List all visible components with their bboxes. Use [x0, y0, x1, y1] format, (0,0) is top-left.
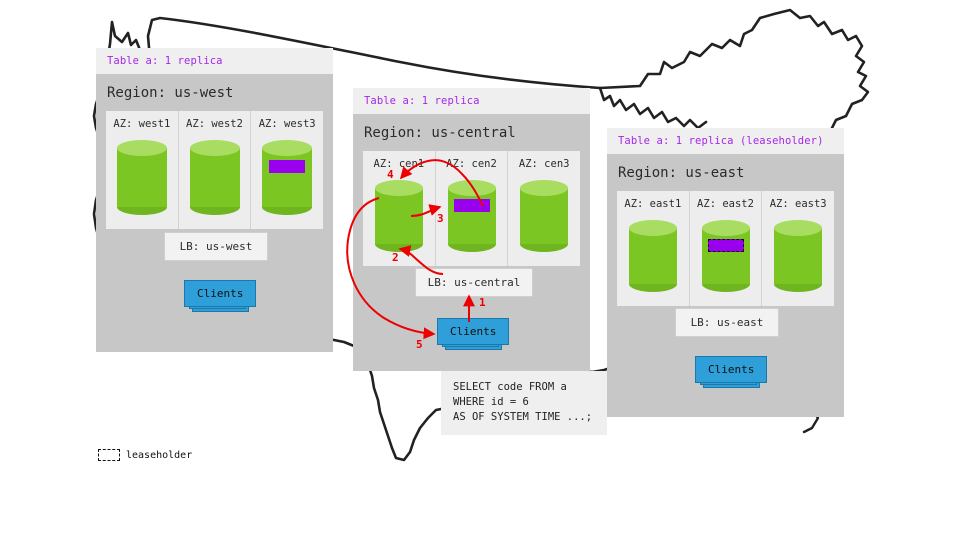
az-label-west3: AZ: west3 [251, 118, 323, 130]
az-cell-west3[interactable]: AZ: west3 [250, 111, 323, 229]
region-label-us-central: Region: us-central [353, 114, 590, 151]
cylinder-east3[interactable] [774, 220, 822, 292]
cylinder-east1[interactable] [629, 220, 677, 292]
cylinder-top [702, 220, 750, 236]
cylinder-top [629, 220, 677, 236]
cylinder-top [262, 140, 312, 156]
az-label-cen2: AZ: cen2 [436, 158, 508, 170]
diagram-canvas: Table a: 1 replica Region: us-west AZ: w… [0, 0, 960, 540]
az-row-us-east: AZ: east1 AZ: east2 AZ: east3 [617, 191, 834, 306]
az-row-us-west: AZ: west1 AZ: west2 AZ: west3 [106, 111, 323, 229]
cylinder-top [190, 140, 240, 156]
load-balancer-us-central[interactable]: LB: us-central [415, 268, 533, 297]
az-label-cen1: AZ: cen1 [363, 158, 435, 170]
legend-leaseholder: leaseholder [98, 449, 192, 461]
load-balancer-us-west[interactable]: LB: us-west [164, 232, 268, 261]
cylinder-body [375, 188, 423, 244]
az-label-east2: AZ: east2 [690, 198, 762, 210]
cylinder-west1[interactable] [117, 140, 167, 215]
range-replica-east2-leaseholder[interactable] [708, 239, 744, 252]
cylinder-west2[interactable] [190, 140, 240, 215]
cylinder-body [629, 228, 677, 284]
az-cell-west1[interactable]: AZ: west1 [106, 111, 178, 229]
cylinder-top [520, 180, 568, 196]
panel-title-us-central: Table a: 1 replica [353, 88, 590, 114]
region-panel-us-west: Table a: 1 replica Region: us-west AZ: w… [96, 48, 333, 352]
leaseholder-swatch-icon [98, 449, 120, 461]
cylinder-body [520, 188, 568, 244]
az-label-west1: AZ: west1 [106, 118, 178, 130]
arrow-number-3: 3 [437, 212, 444, 225]
clients-us-east[interactable]: Clients [695, 356, 767, 383]
cylinder-cen2[interactable] [448, 180, 496, 252]
az-cell-cen1[interactable]: AZ: cen1 [363, 151, 435, 266]
clients-label-us-central[interactable]: Clients [437, 318, 509, 345]
clients-us-west[interactable]: Clients [184, 280, 256, 307]
cylinder-body [262, 148, 312, 207]
clients-label-us-west[interactable]: Clients [184, 280, 256, 307]
cylinder-east2[interactable] [702, 220, 750, 292]
region-label-us-east: Region: us-east [607, 154, 844, 191]
az-cell-west2[interactable]: AZ: west2 [178, 111, 251, 229]
cylinder-top [448, 180, 496, 196]
cylinder-cen1[interactable] [375, 180, 423, 252]
cylinder-body [702, 228, 750, 284]
range-replica-cen2[interactable] [454, 199, 490, 212]
az-label-west2: AZ: west2 [179, 118, 251, 130]
az-cell-cen2[interactable]: AZ: cen2 [435, 151, 508, 266]
cylinder-body [774, 228, 822, 284]
legend-label: leaseholder [126, 450, 192, 461]
clients-label-us-east[interactable]: Clients [695, 356, 767, 383]
az-cell-east3[interactable]: AZ: east3 [761, 191, 834, 306]
cylinder-top [117, 140, 167, 156]
az-row-us-central: AZ: cen1 AZ: cen2 AZ: cen3 [363, 151, 580, 266]
region-label-us-west: Region: us-west [96, 74, 333, 111]
arrow-number-2: 2 [392, 251, 399, 264]
cylinder-body [190, 148, 240, 207]
cylinder-west3[interactable] [262, 140, 312, 215]
sql-query-box: SELECT code FROM a WHERE id = 6 AS OF SY… [441, 371, 607, 435]
cylinder-body [117, 148, 167, 207]
panel-title-us-east: Table a: 1 replica (leaseholder) [607, 128, 844, 154]
az-cell-cen3[interactable]: AZ: cen3 [507, 151, 580, 266]
region-panel-us-east: Table a: 1 replica (leaseholder) Region:… [607, 128, 844, 417]
cylinder-body [448, 188, 496, 244]
az-label-east1: AZ: east1 [617, 198, 689, 210]
range-replica-west3[interactable] [269, 160, 305, 173]
load-balancer-us-east[interactable]: LB: us-east [675, 308, 779, 337]
cylinder-top [375, 180, 423, 196]
az-cell-east2[interactable]: AZ: east2 [689, 191, 762, 306]
clients-us-central[interactable]: Clients [437, 318, 509, 345]
az-label-east3: AZ: east3 [762, 198, 834, 210]
cylinder-cen3[interactable] [520, 180, 568, 252]
cylinder-top [774, 220, 822, 236]
arrow-number-4: 4 [387, 168, 394, 181]
az-cell-east1[interactable]: AZ: east1 [617, 191, 689, 306]
region-panel-us-central: Table a: 1 replica Region: us-central AZ… [353, 88, 590, 371]
panel-title-us-west: Table a: 1 replica [96, 48, 333, 74]
az-label-cen3: AZ: cen3 [508, 158, 580, 170]
arrow-number-5: 5 [416, 338, 423, 351]
arrow-number-1: 1 [479, 296, 486, 309]
